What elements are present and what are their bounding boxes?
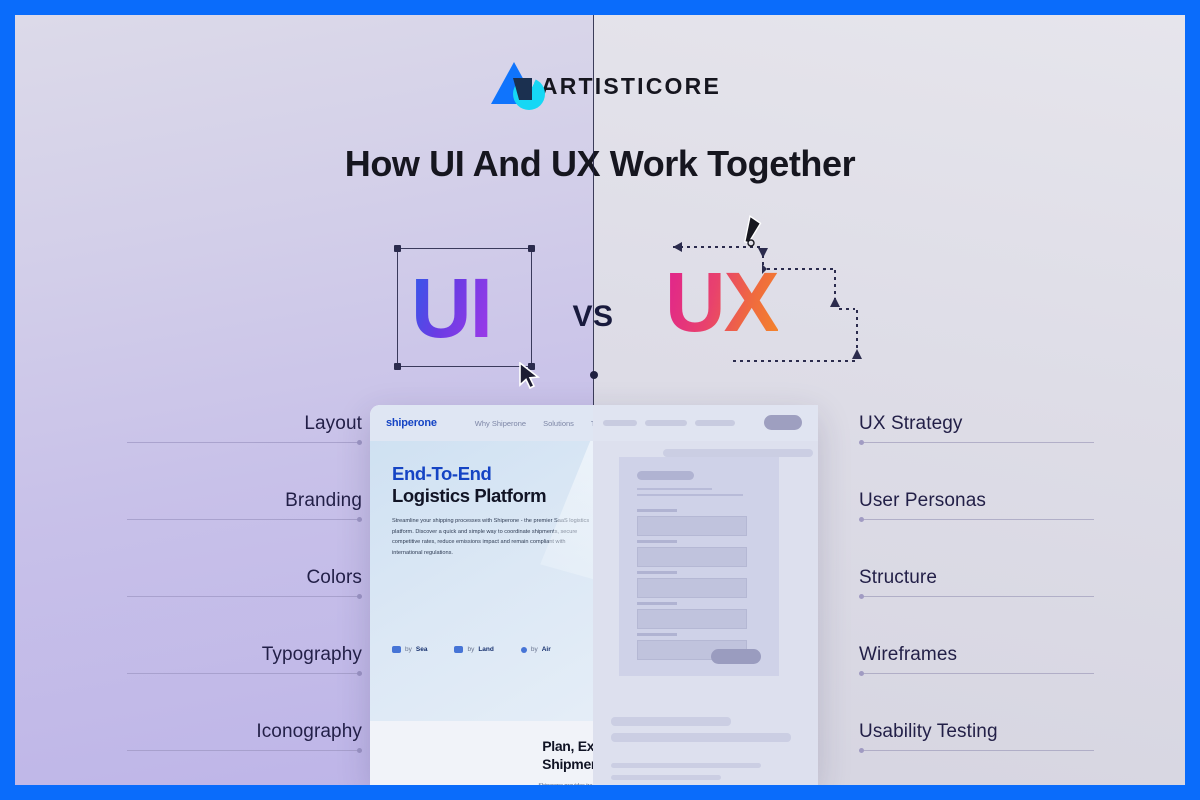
list-item-label: Typography [127, 644, 362, 673]
wireframe-text-line [637, 488, 712, 490]
chip-by-air[interactable]: by Air [521, 646, 551, 653]
selection-handle-top-left[interactable] [394, 245, 401, 252]
page-frame: ARTISTICORE How UI And UX Work Together … [0, 0, 1200, 800]
truck-icon [454, 646, 463, 653]
wireframe-strip [663, 449, 813, 457]
wireframe-field[interactable] [637, 602, 747, 629]
wireframe-text-line [637, 494, 743, 496]
list-item[interactable]: Typography [127, 644, 362, 721]
list-item-label: User Personas [859, 490, 1094, 519]
wireframe-field[interactable] [637, 509, 747, 536]
ux-graphic: UX [651, 215, 871, 385]
selection-handle-bottom-left[interactable] [394, 363, 401, 370]
chip-by-sea[interactable]: by Sea [392, 646, 427, 653]
wireframe-field-input[interactable] [637, 578, 747, 598]
ship-icon [392, 646, 401, 653]
nav-link-why[interactable]: Why Shiperone [475, 419, 526, 428]
hero-body: Streamline your shipping processes with … [392, 516, 597, 560]
list-item[interactable]: Wireframes [859, 644, 1094, 721]
hero-headline-line1: End-To-End [392, 463, 491, 484]
list-item[interactable]: Iconography [127, 721, 362, 785]
wireframe-field-input[interactable] [637, 547, 747, 567]
list-item-label: Colors [127, 567, 362, 596]
list-item-rule [127, 750, 362, 751]
plane-icon [521, 647, 527, 653]
wireframe-nav-button[interactable] [764, 415, 802, 430]
wireframe-strip [611, 717, 731, 726]
list-item-label: Iconography [127, 721, 362, 750]
wireframe-field[interactable] [637, 540, 747, 567]
mockup-nav-links: Why Shiperone Solutions The T [475, 419, 611, 428]
brand-logo: ARTISTICORE [491, 57, 721, 115]
chip-prefix: by [405, 646, 412, 653]
mockup-brand[interactable]: shiperone [386, 417, 437, 429]
wireframe-strip [611, 763, 761, 768]
wireframe-overlay [593, 405, 818, 785]
list-item-label: Branding [127, 490, 362, 519]
ui-label: UI [411, 266, 491, 350]
chip-prefix: by [531, 646, 538, 653]
list-item[interactable]: Usability Testing [859, 721, 1094, 785]
list-item-rule [859, 750, 1094, 751]
wireframe-form-title [637, 471, 694, 480]
list-item-label: Structure [859, 567, 1094, 596]
list-item-rule [127, 596, 362, 597]
chip-mode: Land [478, 646, 494, 653]
wireframe-field-label [637, 602, 677, 605]
list-item[interactable]: Structure [859, 567, 1094, 644]
list-item[interactable]: User Personas [859, 490, 1094, 567]
ui-feature-list: Layout Branding Colors Typography Iconog… [127, 413, 362, 785]
list-item-rule [859, 519, 1094, 520]
wireframe-field-input[interactable] [637, 609, 747, 629]
poster-canvas: ARTISTICORE How UI And UX Work Together … [15, 15, 1185, 785]
chip-prefix: by [467, 646, 474, 653]
list-item-rule [859, 596, 1094, 597]
selection-cursor-icon [519, 362, 541, 390]
wireframe-nav-bar [603, 420, 637, 426]
list-item-rule [859, 442, 1094, 443]
wireframe-submit-button[interactable] [711, 649, 761, 664]
selection-handle-top-right[interactable] [528, 245, 535, 252]
chip-mode: Sea [416, 646, 428, 653]
ui-graphic: UI [397, 230, 547, 380]
artisticore-logo-mark-icon [491, 60, 531, 112]
vs-label: VS [561, 300, 625, 334]
wireframe-field-label [637, 509, 677, 512]
wireframe-field[interactable] [637, 571, 747, 598]
list-item-label: UX Strategy [859, 413, 1094, 442]
list-item-label: Usability Testing [859, 721, 1094, 750]
list-item-rule [859, 673, 1094, 674]
list-item-label: Layout [127, 413, 362, 442]
hero-headline-line2: Logistics Platform [392, 485, 546, 506]
wireframe-field-label [637, 633, 677, 636]
brand-name: ARTISTICORE [541, 73, 721, 100]
transport-mode-chips: by Sea by Land by Air [392, 646, 551, 653]
divider-dot [590, 371, 598, 379]
wireframe-field-label [637, 571, 677, 574]
wireframe-nav-bar [645, 420, 687, 426]
ux-feature-list: UX Strategy User Personas Structure Wire… [859, 413, 1094, 785]
wireframe-field-input[interactable] [637, 516, 747, 536]
wireframe-field-label [637, 540, 677, 543]
nav-link-solutions[interactable]: Solutions [543, 419, 574, 428]
pen-tool-icon [739, 215, 763, 251]
wireframe-strip [611, 775, 721, 780]
wireframe-navbar [593, 405, 818, 441]
list-item-rule [127, 519, 362, 520]
list-item[interactable]: Layout [127, 413, 362, 490]
chip-by-land[interactable]: by Land [454, 646, 493, 653]
list-item-rule [127, 442, 362, 443]
list-item-label: Wireframes [859, 644, 1094, 673]
list-item-rule [127, 673, 362, 674]
wireframe-nav-bar [695, 420, 735, 426]
ux-label: UX [665, 260, 778, 344]
page-title: How UI And UX Work Together [15, 143, 1185, 185]
chip-mode: Air [542, 646, 551, 653]
wireframe-form-card [619, 457, 779, 676]
list-item[interactable]: UX Strategy [859, 413, 1094, 490]
list-item[interactable]: Colors [127, 567, 362, 644]
wireframe-strip [611, 733, 791, 742]
list-item[interactable]: Branding [127, 490, 362, 567]
